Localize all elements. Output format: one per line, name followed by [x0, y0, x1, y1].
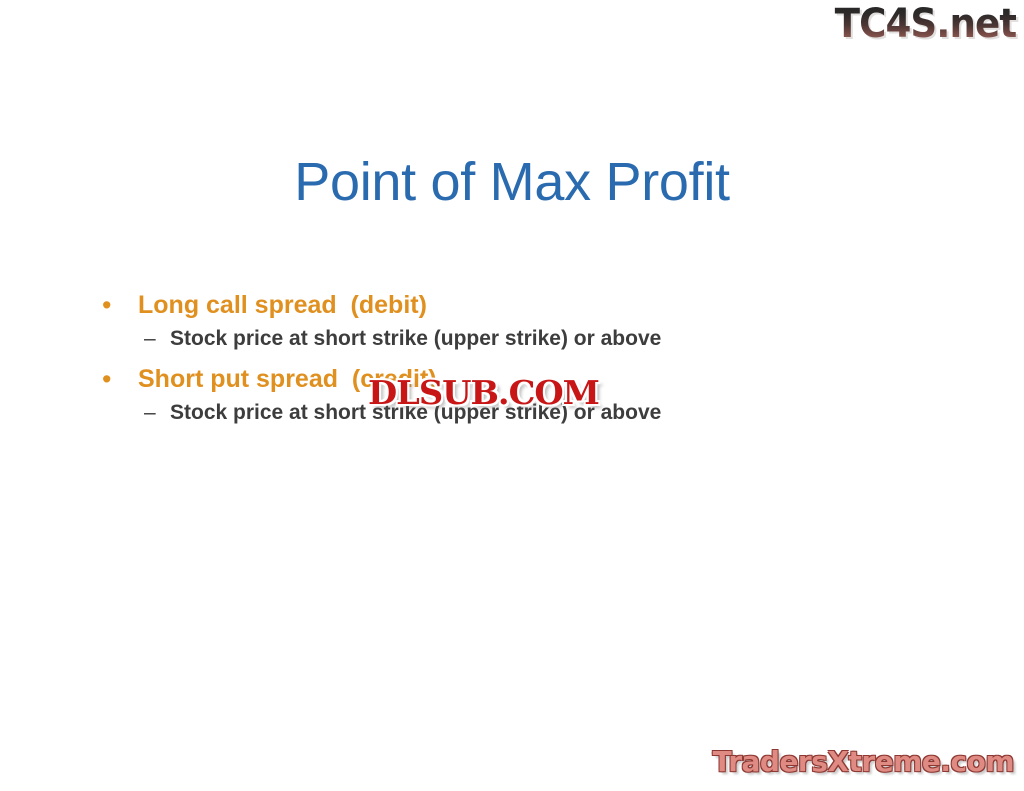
bullet-text-long-call-spread: Long call spread (debit)	[138, 288, 427, 322]
tradersxtreme-logo: TradersXtreme.com	[713, 745, 1014, 779]
list-item: • Long call spread (debit)	[98, 288, 928, 322]
tc4s-net-logo: TC4S.net	[834, 2, 1016, 46]
bullet-marker-icon: •	[98, 288, 138, 322]
sub-bullet-text: Stock price at short strike (upper strik…	[170, 324, 661, 354]
list-item: – Stock price at short strike (upper str…	[98, 324, 928, 354]
dash-marker-icon: –	[144, 398, 170, 428]
bullet-list: • Long call spread (debit) – Stock price…	[98, 288, 928, 436]
slide-canvas: TC4S.net TC4S.net Point of Max Profit • …	[0, 0, 1024, 791]
dlsub-watermark: DLSUB.COM	[368, 374, 599, 412]
dash-marker-icon: –	[144, 324, 170, 354]
page-title: Point of Max Profit	[0, 152, 1024, 212]
bullet-marker-icon: •	[98, 362, 138, 396]
